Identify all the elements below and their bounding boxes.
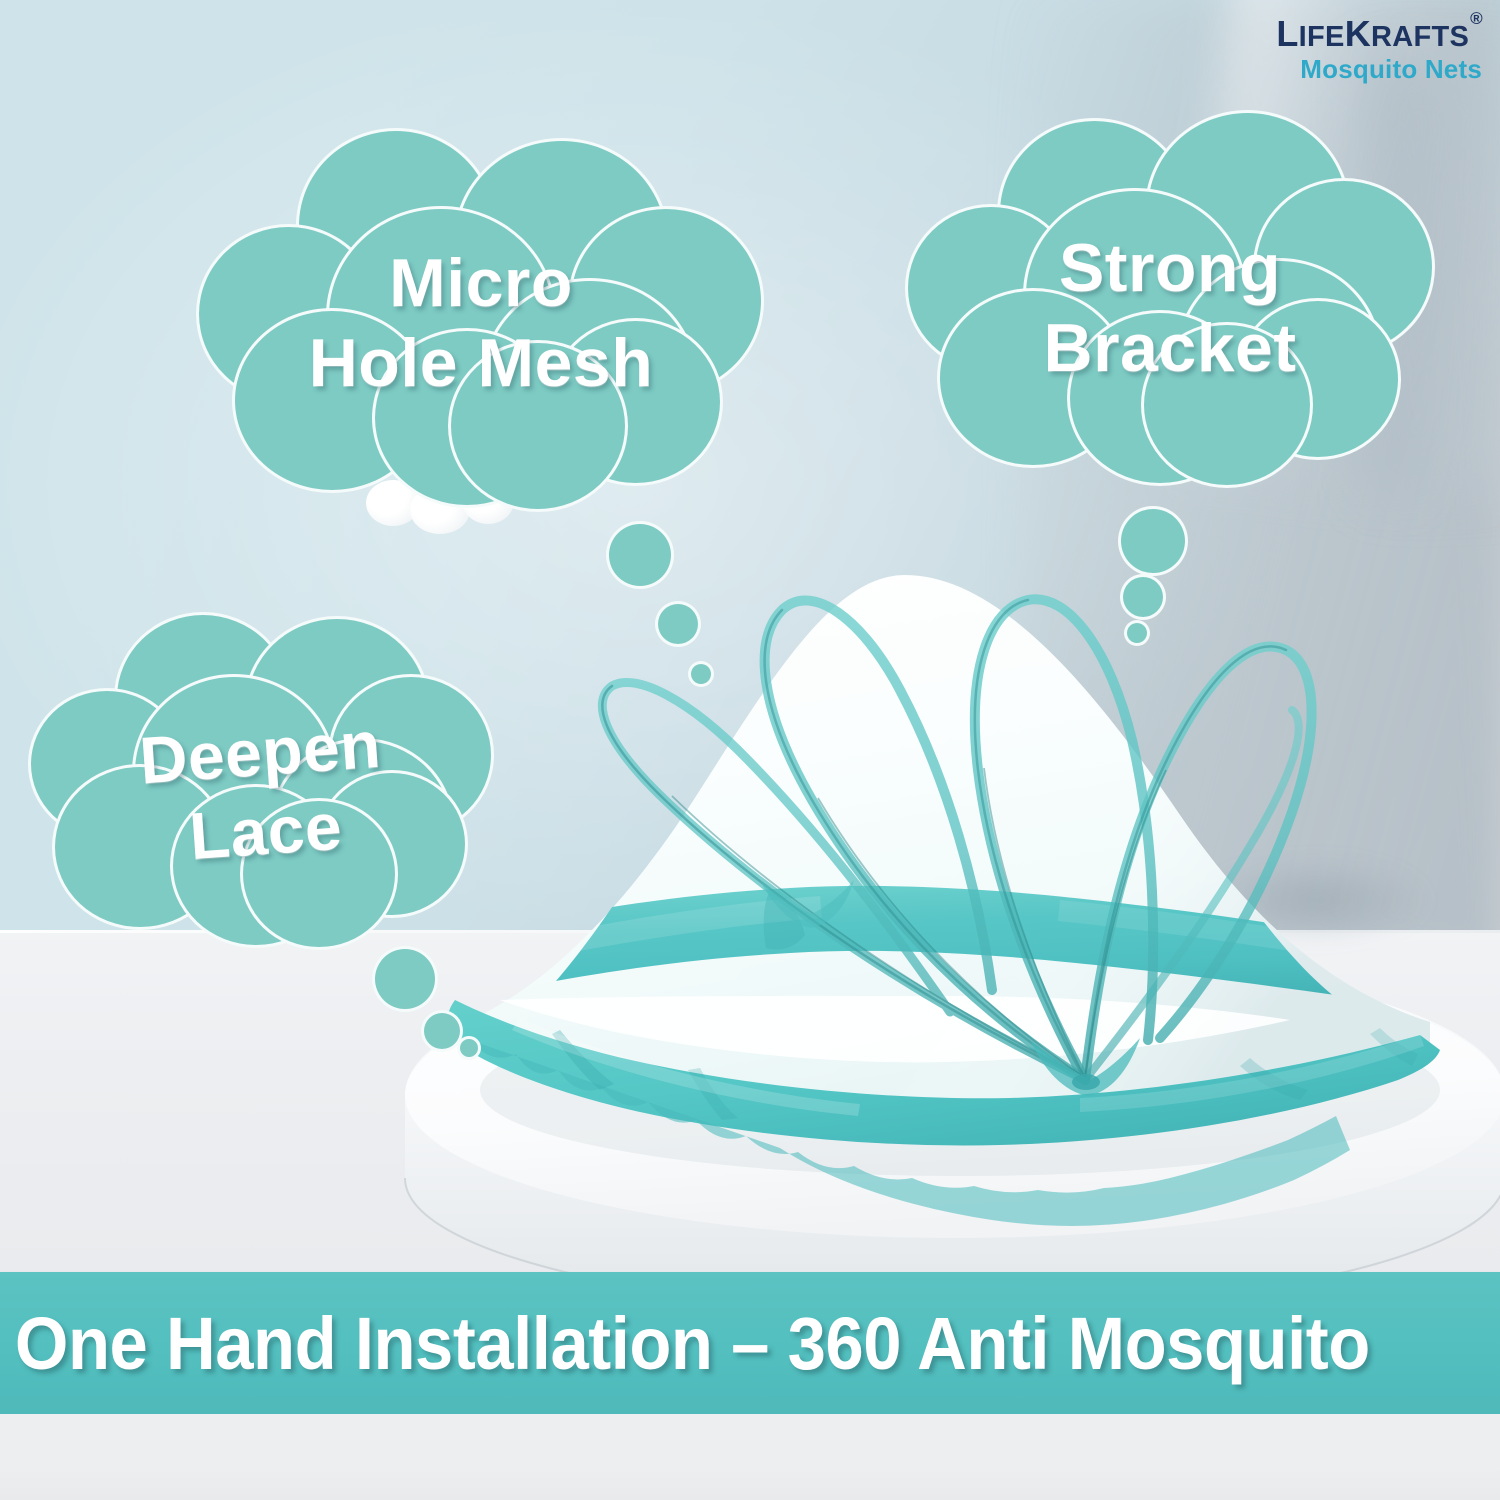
bubble-dot-micro-1 — [606, 521, 674, 589]
promo-banner-text: One Hand Installation – 360 Anti Mosquit… — [0, 1301, 1370, 1386]
brand-name-k: K — [1345, 13, 1371, 54]
feature-bubble-micro-hole-mesh[interactable]: Micro Hole Mesh — [196, 128, 766, 518]
brand-logo: LIFEKRAFTS® Mosquito Nets — [1276, 16, 1482, 82]
brand-tagline: Mosquito Nets — [1276, 56, 1482, 82]
bottom-white-strip — [0, 1414, 1500, 1500]
bubble-dot-micro-2 — [655, 601, 701, 647]
feature-bubble-deepen-lace[interactable]: Deepen Lace — [28, 612, 498, 972]
bubble-dot-deepen-3 — [457, 1036, 481, 1060]
cloud-shape — [196, 128, 766, 518]
bubble-dot-strong-1 — [1118, 506, 1188, 576]
bubble-dot-deepen-1 — [372, 946, 438, 1012]
brand-name-rafts: RAFTS — [1371, 21, 1469, 53]
brand-name: LIFEKRAFTS® — [1276, 16, 1482, 52]
bubble-dot-strong-3 — [1124, 620, 1150, 646]
registered-trademark-icon: ® — [1470, 9, 1483, 28]
cloud-shape — [28, 612, 498, 972]
cloud-shape — [905, 118, 1435, 498]
promo-banner: One Hand Installation – 360 Anti Mosquit… — [0, 1272, 1500, 1414]
bubble-dot-strong-2 — [1120, 574, 1166, 620]
bubble-dot-micro-3 — [688, 661, 714, 687]
product-infographic-canvas: Micro Hole Mesh Strong Bracket — [0, 0, 1500, 1500]
feature-bubble-strong-bracket[interactable]: Strong Bracket — [905, 118, 1435, 498]
brand-name-l: L — [1276, 13, 1298, 54]
brand-name-ife: IFE — [1299, 21, 1345, 53]
